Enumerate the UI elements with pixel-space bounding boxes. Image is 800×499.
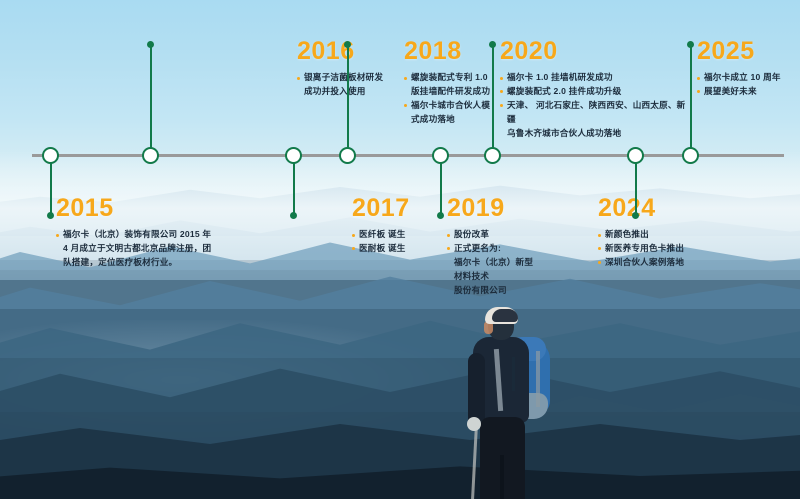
milestone-item-continuation: 式成功落地 bbox=[404, 113, 500, 127]
milestone-item: 福尔卡城市合伙人模 bbox=[404, 99, 500, 113]
milestone-text: 福尔卡 1.0 挂墙机研发成功 bbox=[507, 71, 690, 85]
milestone-list-2015: 福尔卡（北京）装饰有限公司 2015 年4 月成立于文明古都北京品牌注册，团队搭… bbox=[56, 228, 261, 270]
bullet-dot-icon bbox=[404, 90, 407, 93]
milestone-text: 深圳合伙人案例落地 bbox=[605, 256, 738, 270]
bullet-dot-icon bbox=[697, 77, 700, 80]
bullet-dot-icon bbox=[598, 234, 601, 237]
timeline-node-2017[interactable] bbox=[285, 147, 302, 164]
milestone-item-continuation: 4 月成立于文明古都北京品牌注册，团 bbox=[56, 242, 261, 256]
bullet-dot-icon bbox=[598, 247, 601, 250]
year-label-2018: 2018 bbox=[404, 39, 500, 64]
milestone-text: 队搭建，定位医疗板材行业。 bbox=[63, 256, 261, 270]
year-label-2017: 2017 bbox=[352, 196, 444, 221]
bullet-dot-icon bbox=[56, 261, 59, 264]
milestone-item: 福尔卡成立 10 周年 bbox=[697, 71, 797, 85]
timeline-entry-2025[interactable]: 2025福尔卡成立 10 周年展望美好未来 bbox=[697, 39, 797, 99]
backpack-strap-right bbox=[536, 351, 540, 407]
milestone-item: 正式更名为: bbox=[447, 242, 537, 256]
stem-2016 bbox=[150, 45, 152, 149]
stem-2020 bbox=[492, 45, 494, 149]
milestone-text: 股份有限公司 bbox=[454, 284, 537, 298]
bullet-dot-icon bbox=[447, 261, 450, 264]
bullet-dot-icon bbox=[500, 77, 503, 80]
stem-2019 bbox=[440, 163, 442, 215]
milestone-text: 版挂墙配件研发成功 bbox=[411, 85, 500, 99]
milestone-text: 正式更名为: bbox=[454, 242, 537, 256]
bullet-dot-icon bbox=[404, 77, 407, 80]
timeline-node-2016[interactable] bbox=[142, 147, 159, 164]
timeline-entry-2020[interactable]: 2020福尔卡 1.0 挂墙机研发成功螺旋装配式 2.0 挂件成功升级天津、 河… bbox=[500, 39, 690, 141]
bullet-dot-icon bbox=[447, 247, 450, 250]
bullet-dot-icon bbox=[352, 234, 355, 237]
bullet-dot-icon bbox=[500, 90, 503, 93]
milestone-text: 乌鲁木齐城市合伙人成功落地 bbox=[507, 127, 690, 141]
hiker-figure bbox=[440, 305, 570, 499]
milestone-item-continuation: 乌鲁木齐城市合伙人成功落地 bbox=[500, 127, 690, 141]
milestone-item-continuation: 股份有限公司 bbox=[447, 284, 537, 298]
milestone-text: 螺旋装配式 2.0 挂件成功升级 bbox=[507, 85, 690, 99]
bullet-dot-icon bbox=[447, 234, 450, 237]
milestone-text: 天津、 河北石家庄、陕西西安、山西太原、新疆 bbox=[507, 99, 690, 127]
hiker-leg-gap bbox=[500, 455, 504, 499]
milestone-list-2018: 螺旋装配式专利 1.0版挂墙配件研发成功福尔卡城市合伙人模式成功落地 bbox=[404, 71, 500, 127]
year-label-2024: 2024 bbox=[598, 196, 738, 221]
milestone-item: 螺旋装配式 2.0 挂件成功升级 bbox=[500, 85, 690, 99]
milestone-text: 银离子洁菌板材研发 bbox=[304, 71, 397, 85]
milestone-text: 式成功落地 bbox=[411, 113, 500, 127]
milestone-item: 展望美好未来 bbox=[697, 85, 797, 99]
stem-2024 bbox=[635, 163, 637, 215]
milestone-item: 深圳合伙人案例落地 bbox=[598, 256, 738, 270]
milestone-item: 福尔卡（北京）装饰有限公司 2015 年 bbox=[56, 228, 261, 242]
timeline-node-2019[interactable] bbox=[432, 147, 449, 164]
year-label-2020: 2020 bbox=[500, 39, 690, 64]
milestone-item: 新医养专用色卡推出 bbox=[598, 242, 738, 256]
milestone-list-2017: 医纤板 诞生医耐板 诞生 bbox=[352, 228, 444, 256]
milestone-item: 医纤板 诞生 bbox=[352, 228, 444, 242]
milestone-item-continuation: 福尔卡（北京）新型材料技术 bbox=[447, 256, 537, 284]
timeline-node-2024[interactable] bbox=[627, 147, 644, 164]
timeline-entry-2018[interactable]: 2018螺旋装配式专利 1.0版挂墙配件研发成功福尔卡城市合伙人模式成功落地 bbox=[404, 39, 500, 127]
timeline-node-2018[interactable] bbox=[339, 147, 356, 164]
bullet-dot-icon bbox=[404, 118, 407, 121]
milestone-text: 医纤板 诞生 bbox=[359, 228, 444, 242]
bullet-dot-icon bbox=[598, 261, 601, 264]
milestone-item: 福尔卡 1.0 挂墙机研发成功 bbox=[500, 71, 690, 85]
milestone-item: 螺旋装配式专利 1.0 bbox=[404, 71, 500, 85]
milestone-text: 成功并投入使用 bbox=[304, 85, 397, 99]
milestone-text: 福尔卡城市合伙人模 bbox=[411, 99, 500, 113]
bullet-dot-icon bbox=[447, 289, 450, 292]
milestone-item: 新颜色推出 bbox=[598, 228, 738, 242]
milestone-text: 展望美好未来 bbox=[704, 85, 797, 99]
bullet-dot-icon bbox=[404, 104, 407, 107]
milestone-text: 新医养专用色卡推出 bbox=[605, 242, 738, 256]
timeline-node-2020[interactable] bbox=[484, 147, 501, 164]
stem-2018 bbox=[347, 45, 349, 149]
timeline-entry-2015[interactable]: 2015福尔卡（北京）装饰有限公司 2015 年4 月成立于文明古都北京品牌注册… bbox=[56, 196, 261, 270]
milestone-item: 股份改革 bbox=[447, 228, 537, 242]
milestone-text: 4 月成立于文明古都北京品牌注册，团 bbox=[63, 242, 261, 256]
bullet-dot-icon bbox=[500, 132, 503, 135]
bullet-dot-icon bbox=[500, 104, 503, 107]
bullet-dot-icon bbox=[697, 90, 700, 93]
year-label-2025: 2025 bbox=[697, 39, 797, 64]
trekking-pole bbox=[471, 423, 478, 499]
stem-2025 bbox=[690, 45, 692, 149]
bullet-dot-icon bbox=[297, 90, 300, 93]
milestone-text: 福尔卡（北京）装饰有限公司 2015 年 bbox=[63, 228, 261, 242]
milestone-list-2020: 福尔卡 1.0 挂墙机研发成功螺旋装配式 2.0 挂件成功升级天津、 河北石家庄… bbox=[500, 71, 690, 141]
milestone-text: 医耐板 诞生 bbox=[359, 242, 444, 256]
milestone-list-2025: 福尔卡成立 10 周年展望美好未来 bbox=[697, 71, 797, 99]
bullet-dot-icon bbox=[297, 77, 300, 80]
timeline-node-2015[interactable] bbox=[42, 147, 59, 164]
milestone-list-2024: 新颜色推出新医养专用色卡推出深圳合伙人案例落地 bbox=[598, 228, 738, 270]
year-label-2019: 2019 bbox=[447, 196, 537, 221]
bullet-dot-icon bbox=[56, 234, 59, 237]
milestone-item-continuation: 队搭建，定位医疗板材行业。 bbox=[56, 256, 261, 270]
bullet-dot-icon bbox=[56, 247, 59, 250]
stem-2017 bbox=[293, 163, 295, 215]
hiker-hand bbox=[467, 417, 481, 431]
milestone-text: 股份改革 bbox=[454, 228, 537, 242]
timeline-entry-2019[interactable]: 2019股份改革正式更名为:福尔卡（北京）新型材料技术股份有限公司 bbox=[447, 196, 537, 298]
timeline-infographic: 2015福尔卡（北京）装饰有限公司 2015 年4 月成立于文明古都北京品牌注册… bbox=[0, 0, 800, 499]
milestone-list-2019: 股份改革正式更名为:福尔卡（北京）新型材料技术股份有限公司 bbox=[447, 228, 537, 298]
bullet-dot-icon bbox=[352, 247, 355, 250]
stem-2015 bbox=[50, 163, 52, 215]
milestone-item: 天津、 河北石家庄、陕西西安、山西太原、新疆 bbox=[500, 99, 690, 127]
hiker-arm bbox=[468, 353, 485, 427]
hiker-cap-crown bbox=[492, 309, 518, 322]
timeline-entry-2017[interactable]: 2017医纤板 诞生医耐板 诞生 bbox=[352, 196, 444, 256]
milestone-text: 福尔卡成立 10 周年 bbox=[704, 71, 797, 85]
milestone-text: 新颜色推出 bbox=[605, 228, 738, 242]
year-label-2015: 2015 bbox=[56, 196, 261, 221]
milestone-text: 螺旋装配式专利 1.0 bbox=[411, 71, 500, 85]
backpack-cord bbox=[512, 357, 515, 391]
milestone-item-continuation: 版挂墙配件研发成功 bbox=[404, 85, 500, 99]
milestone-text: 福尔卡（北京）新型材料技术 bbox=[454, 256, 537, 284]
timeline-entry-2024[interactable]: 2024新颜色推出新医养专用色卡推出深圳合伙人案例落地 bbox=[598, 196, 738, 270]
timeline-node-2025[interactable] bbox=[682, 147, 699, 164]
milestone-item: 医耐板 诞生 bbox=[352, 242, 444, 256]
